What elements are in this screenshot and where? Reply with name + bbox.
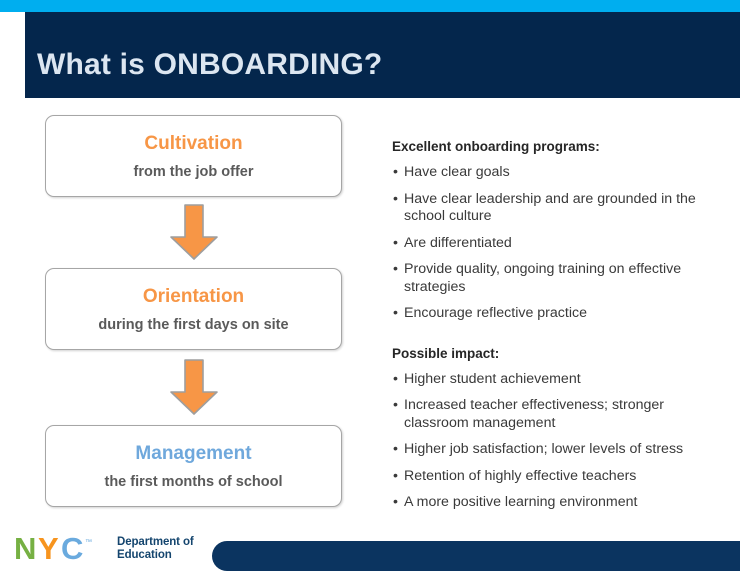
doe-wordmark: Department of Education [117, 536, 194, 562]
section-heading-impact: Possible impact: [392, 345, 717, 362]
list-item: A more positive learning environment [392, 494, 717, 512]
list-item: Encourage reflective practice [392, 305, 717, 323]
svg-text:Y: Y [38, 532, 59, 566]
flow-step-title: Orientation [143, 285, 244, 309]
flow-step-title: Management [135, 442, 251, 466]
flow-step-title: Cultivation [144, 132, 242, 156]
list-item: Increased teacher effectiveness; stronge… [392, 397, 717, 432]
flow-step-subtitle: from the job offer [133, 163, 253, 181]
flow-step-subtitle: the first months of school [104, 473, 282, 491]
svg-text:N: N [14, 532, 36, 566]
svg-text:C: C [61, 532, 83, 566]
list-item: Have clear goals [392, 164, 717, 182]
flow-step-management[interactable]: Management the first months of school [45, 425, 342, 507]
doe-line-2: Education [117, 549, 194, 562]
nyc-doe-logo: N Y C ™ Department of Education [14, 532, 194, 566]
nyc-logo-icon: N Y C ™ [14, 532, 110, 566]
content-column: Excellent onboarding programs: Have clea… [392, 138, 717, 521]
list-item: Provide quality, ongoing training on eff… [392, 261, 717, 296]
list-item: Are differentiated [392, 235, 717, 253]
bullet-list-impact: Higher student achievement Increased tea… [392, 371, 717, 512]
top-accent-bar [0, 0, 740, 12]
doe-line-1: Department of [117, 536, 194, 549]
flow-step-orientation[interactable]: Orientation during the first days on sit… [45, 268, 342, 350]
slide: What is ONBOARDING? Cultivation from the… [0, 0, 740, 574]
flow-step-subtitle: during the first days on site [98, 316, 288, 334]
svg-text:™: ™ [85, 539, 92, 546]
footer-accent-bar [212, 541, 740, 571]
bullet-list-programs: Have clear goals Have clear leadership a… [392, 164, 717, 323]
list-item: Retention of highly effective teachers [392, 468, 717, 486]
list-item: Have clear leadership and are grounded i… [392, 191, 717, 226]
down-arrow-icon [168, 358, 220, 416]
down-arrow-icon [168, 203, 220, 261]
page-title: What is ONBOARDING? [37, 48, 382, 82]
list-item: Higher job satisfaction; lower levels of… [392, 441, 717, 459]
section-heading-programs: Excellent onboarding programs: [392, 138, 717, 155]
section-divider [392, 332, 717, 345]
flow-step-cultivation[interactable]: Cultivation from the job offer [45, 115, 342, 197]
list-item: Higher student achievement [392, 371, 717, 389]
